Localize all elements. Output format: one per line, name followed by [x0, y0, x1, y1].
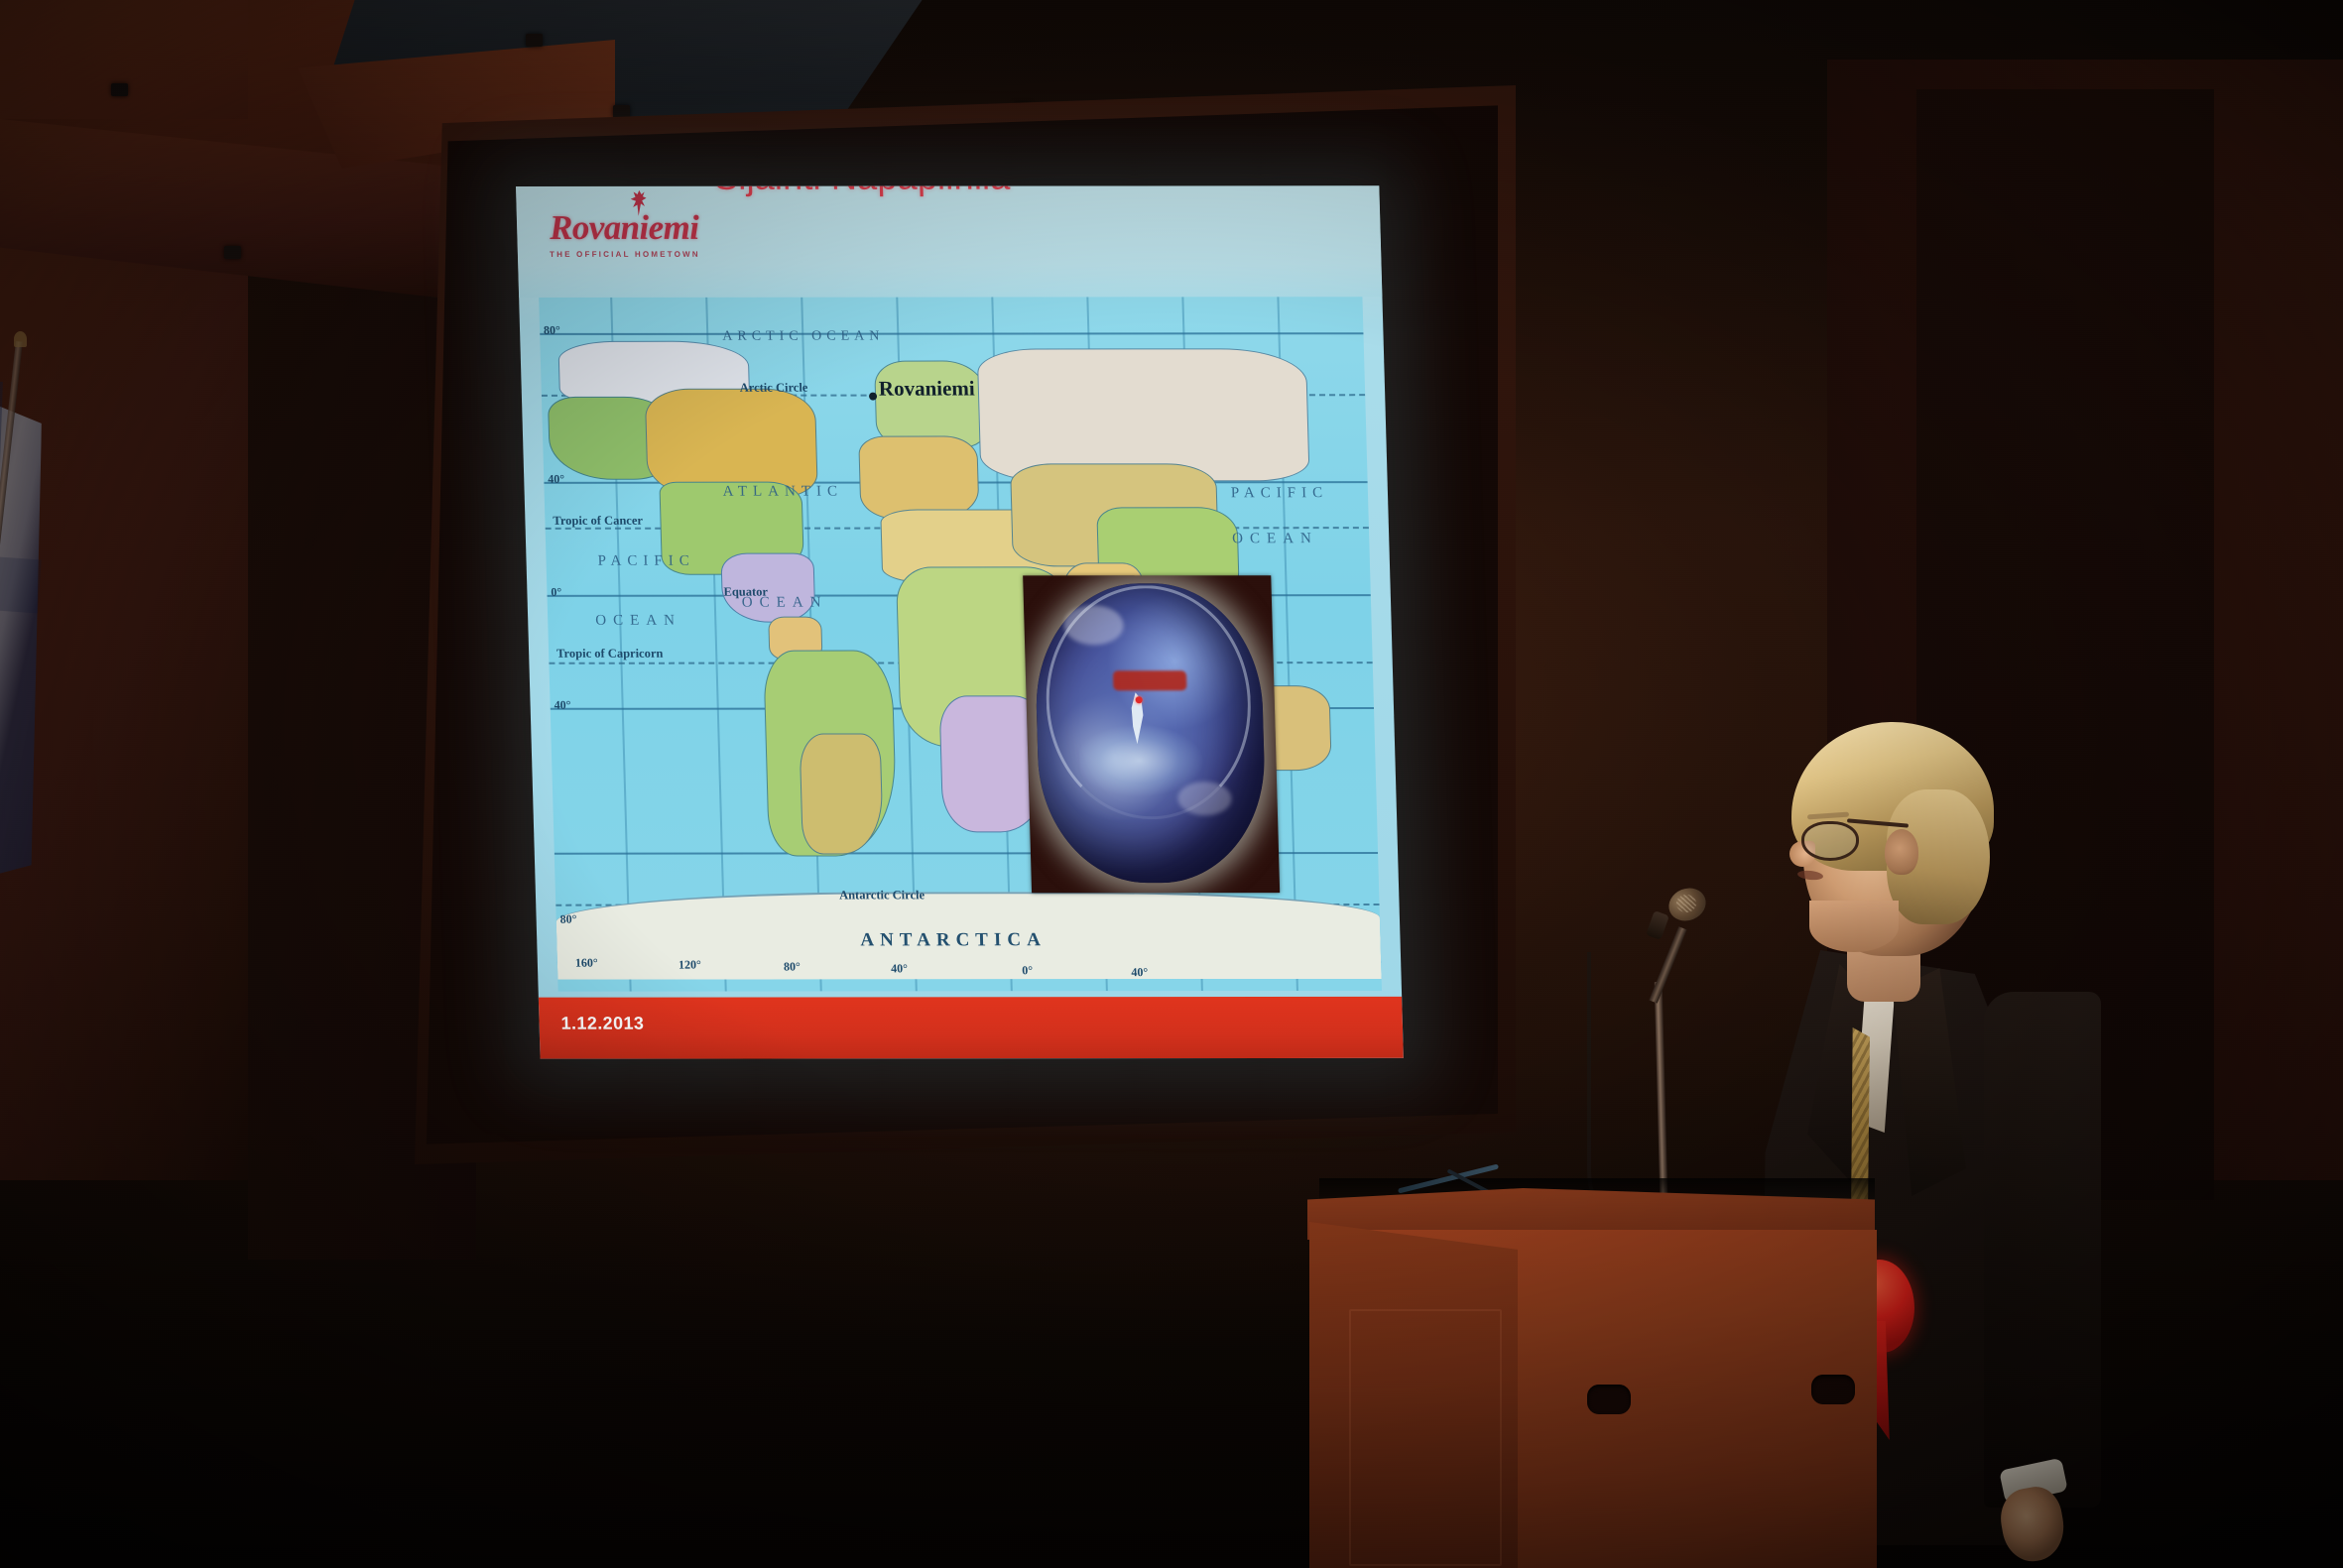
- landmass-scandinavia: [874, 361, 987, 448]
- auditorium-scene: Rovaniemi THE OFFICIAL HOMETOWN 北極圏(北緯66…: [0, 0, 2343, 1568]
- line-label-tropic-capricorn: Tropic of Capricorn: [556, 647, 664, 662]
- lon-label-40e: 40°: [1131, 965, 1148, 980]
- ceiling-spot-light-icon: [224, 246, 241, 259]
- logo-tagline: THE OFFICIAL HOMETOWN: [536, 250, 714, 259]
- line-label-arctic-circle: Arctic Circle: [740, 381, 808, 396]
- slide-date: 1.12.2013: [560, 1014, 644, 1034]
- slide-header: Rovaniemi THE OFFICIAL HOMETOWN: [516, 185, 1382, 298]
- line-label-tropic-cancer: Tropic of Cancer: [553, 514, 643, 529]
- globe-inset-image: [1023, 575, 1280, 893]
- ceiling-spot-light-icon: [526, 34, 543, 47]
- ocean-label-pacific-east-ocean: OCEAN: [1232, 531, 1318, 547]
- city-label-rovaniemi: Rovaniemi: [878, 377, 975, 402]
- speaker-arm: [1984, 992, 2101, 1508]
- flag-pole-finial: [14, 331, 27, 347]
- globe-arctic-highlight: [1113, 670, 1187, 690]
- lat-label-40s: 40°: [554, 698, 570, 713]
- eyeglasses-icon: [1801, 821, 1859, 861]
- landmass-russia: [977, 348, 1310, 481]
- city-dot-icon: [869, 393, 877, 401]
- projected-slide: Rovaniemi THE OFFICIAL HOMETOWN 北極圏(北緯66…: [516, 185, 1404, 1058]
- speaker-ear: [1885, 829, 1918, 875]
- lat-label-80n: 80°: [544, 323, 560, 338]
- globe-rovaniemi-marker-icon: [1136, 696, 1143, 703]
- speaker-chin: [1809, 901, 1899, 952]
- lat-label-0: 0°: [551, 585, 561, 600]
- lat-label-40n: 40°: [548, 472, 564, 487]
- podium-handle-cutout: [1811, 1375, 1855, 1404]
- lat-label-80s: 80°: [559, 912, 576, 927]
- lon-label-40w: 40°: [891, 961, 908, 976]
- landmass-europe: [858, 436, 979, 520]
- landmass-brazil: [800, 733, 884, 854]
- flag-cross-horizontal: [0, 551, 42, 614]
- ocean-label-pacific-east: PACIFIC: [1231, 485, 1329, 502]
- ocean-label-pacific-west-ocean: OCEAN: [595, 613, 681, 630]
- lon-label-0: 0°: [1022, 963, 1033, 978]
- ceiling-panel-e: [0, 0, 248, 119]
- lon-label-80: 80°: [784, 959, 801, 974]
- ocean-label-arctic: ARCTIC OCEAN: [722, 329, 885, 345]
- rovaniemi-logo: Rovaniemi THE OFFICIAL HOMETOWN: [535, 210, 714, 259]
- continent-label-antarctica: ANTARCTICA: [860, 929, 1047, 951]
- podium-inset-moulding: [1349, 1309, 1502, 1566]
- ocean-label-atlantic: ATLANTIC: [722, 484, 843, 501]
- lon-label-160: 160°: [575, 956, 598, 971]
- slide-title-finnish: Sijainti Napapiirillä: [713, 185, 1369, 198]
- line-label-equator: Equator: [723, 585, 768, 600]
- ceiling-spot-light-icon: [111, 83, 128, 96]
- ocean-label-pacific-west: PACIFIC: [597, 553, 695, 570]
- podium-handle-cutout: [1587, 1385, 1631, 1414]
- logo-wordmark: Rovaniemi: [535, 210, 714, 245]
- line-label-antarctic-circle: Antarctic Circle: [839, 888, 925, 903]
- microphone-grille: [1676, 895, 1696, 912]
- lon-label-120: 120°: [678, 958, 701, 973]
- slide-footer-bar: 1.12.2013: [539, 997, 1404, 1059]
- ceiling-spot-light-icon: [613, 105, 630, 118]
